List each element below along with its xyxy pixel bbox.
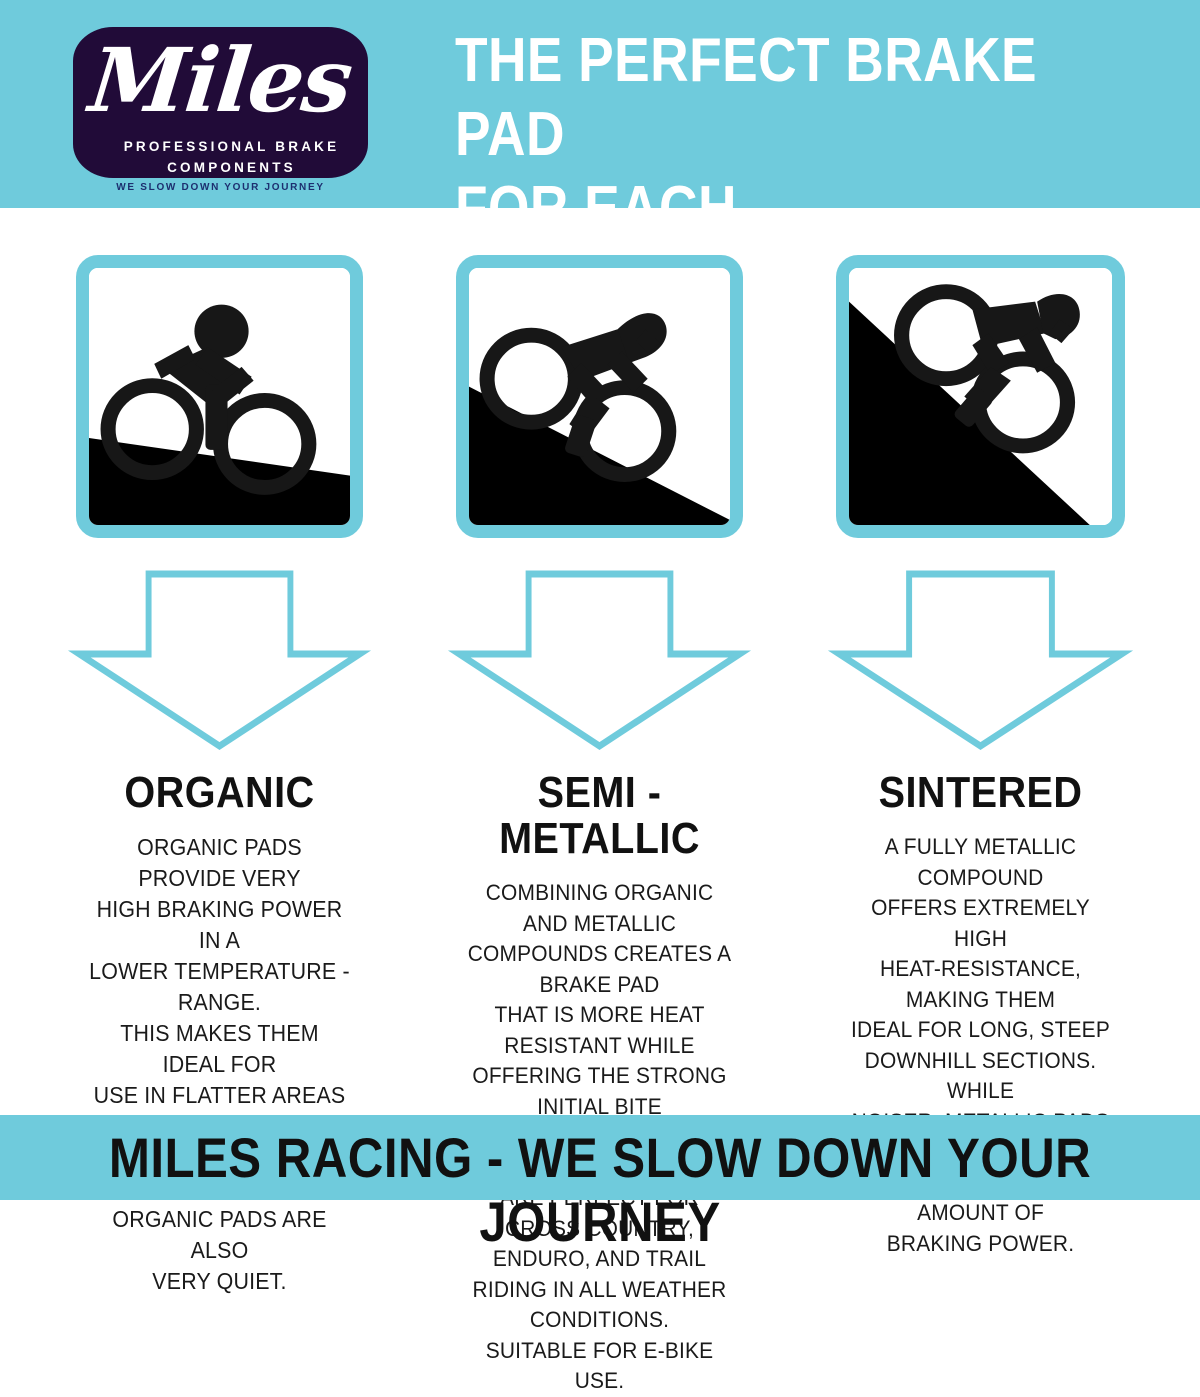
logo-tagline: WE SLOW DOWN YOUR JOURNEY [73, 182, 368, 193]
category-title-organic: ORGANIC [90, 770, 348, 816]
cyclist-gentle-slope-icon [89, 268, 350, 525]
panel-sintered [836, 255, 1125, 538]
panel-organic [76, 255, 363, 538]
infographic-page: Miles PROFESSIONAL BRAKE COMPONENTS WE S… [0, 0, 1200, 1200]
logo-subtitle-line1: PROFESSIONAL BRAKE [95, 139, 368, 154]
footer-tagline: MILES RACING - WE SLOW DOWN YOUR JOURNEY [72, 1126, 1128, 1254]
arrow-down-sintered [836, 570, 1125, 750]
cyclist-steep-slope-icon [849, 268, 1112, 525]
column-sintered: SINTERED A FULLY METALLIC COMPOUND OFFER… [836, 255, 1125, 1259]
category-title-sintered: SINTERED [850, 770, 1110, 816]
logo-script-wordmark: Miles [73, 27, 368, 136]
miles-logo-badge: Miles PROFESSIONAL BRAKE COMPONENTS [73, 27, 368, 178]
panel-semi-metallic [456, 255, 743, 538]
arrow-down-semi-metallic [456, 570, 743, 750]
cyclist-medium-slope-icon [469, 268, 730, 525]
arrow-down-organic [76, 570, 363, 750]
category-title-semi-metallic: SEMI - METALLIC [470, 770, 728, 862]
logo-subtitle-line2: COMPONENTS [95, 160, 368, 175]
